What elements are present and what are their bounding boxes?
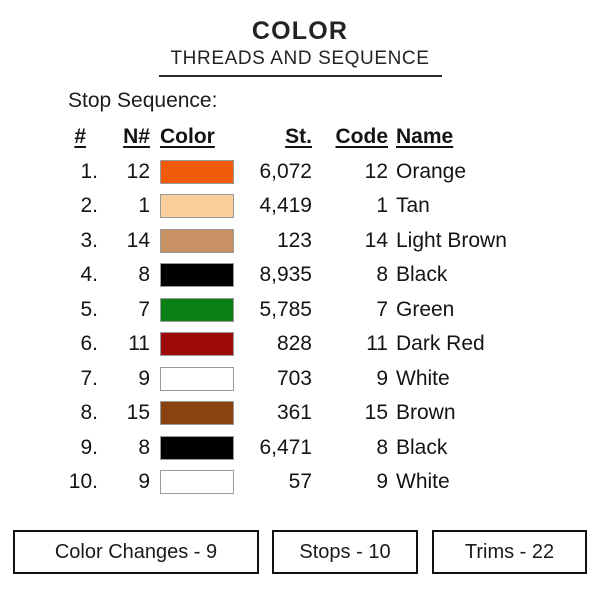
- title-divider: [159, 75, 442, 77]
- stops-label: Stops - 10: [299, 541, 390, 564]
- row-index: 5.: [0, 297, 98, 323]
- row-needle-number: 7: [104, 297, 150, 323]
- row-color-code: 15: [316, 400, 388, 426]
- table-body: 1.126,07212Orange2.14,4191Tan3.1412314Li…: [0, 159, 600, 504]
- page-subtitle: THREADS AND SEQUENCE: [0, 49, 600, 70]
- row-index: 10.: [0, 469, 98, 495]
- row-index: 6.: [0, 331, 98, 357]
- row-stitch-count: 8,935: [236, 262, 312, 288]
- row-stitch-count: 4,419: [236, 193, 312, 219]
- color-changes-box: Color Changes - 9: [13, 530, 259, 574]
- row-color-code: 8: [316, 262, 388, 288]
- row-needle-number: 8: [104, 435, 150, 461]
- color-swatch: [160, 194, 234, 218]
- row-color-code: 14: [316, 228, 388, 254]
- row-stitch-count: 123: [236, 228, 312, 254]
- row-stitch-count: 6,471: [236, 435, 312, 461]
- color-swatch: [160, 298, 234, 322]
- row-color-code: 12: [316, 159, 388, 185]
- color-swatch: [160, 367, 234, 391]
- row-stitch-count: 5,785: [236, 297, 312, 323]
- row-color-name: Green: [396, 297, 596, 323]
- row-needle-number: 15: [104, 400, 150, 426]
- column-header-name: Name: [396, 124, 506, 150]
- row-index: 8.: [0, 400, 98, 426]
- table-row: 10.9579White: [0, 469, 600, 504]
- column-header-stitches: St.: [236, 124, 312, 150]
- row-needle-number: 12: [104, 159, 150, 185]
- row-color-name: White: [396, 469, 596, 495]
- table-row: 5.75,7857Green: [0, 297, 600, 332]
- row-stitch-count: 828: [236, 331, 312, 357]
- page-title: COLOR: [0, 18, 600, 46]
- color-changes-label: Color Changes - 9: [55, 541, 217, 564]
- table-row: 7.97039White: [0, 366, 600, 401]
- row-index: 2.: [0, 193, 98, 219]
- row-color-name: Dark Red: [396, 331, 596, 357]
- row-color-name: White: [396, 366, 596, 392]
- row-color-code: 7: [316, 297, 388, 323]
- row-color-name: Brown: [396, 400, 596, 426]
- row-index: 3.: [0, 228, 98, 254]
- stop-sequence-table: # N# Color St. Code Name 1.126,07212Oran…: [0, 124, 600, 504]
- stops-box: Stops - 10: [272, 530, 418, 574]
- row-needle-number: 9: [104, 366, 150, 392]
- row-color-name: Light Brown: [396, 228, 596, 254]
- stop-sequence-label: Stop Sequence:: [68, 89, 217, 113]
- row-needle-number: 1: [104, 193, 150, 219]
- row-color-name: Black: [396, 262, 596, 288]
- row-index: 1.: [0, 159, 98, 185]
- row-needle-number: 14: [104, 228, 150, 254]
- column-header-color: Color: [160, 124, 236, 150]
- row-stitch-count: 6,072: [236, 159, 312, 185]
- color-swatch: [160, 401, 234, 425]
- row-color-code: 1: [316, 193, 388, 219]
- table-row: 2.14,4191Tan: [0, 193, 600, 228]
- summary-footer: Color Changes - 9 Stops - 10 Trims - 22: [0, 530, 600, 576]
- table-row: 4.88,9358Black: [0, 262, 600, 297]
- table-row: 9.86,4718Black: [0, 435, 600, 470]
- table-row: 3.1412314Light Brown: [0, 228, 600, 263]
- row-stitch-count: 361: [236, 400, 312, 426]
- table-row: 1.126,07212Orange: [0, 159, 600, 194]
- row-color-code: 9: [316, 366, 388, 392]
- row-color-name: Tan: [396, 193, 596, 219]
- color-swatch: [160, 229, 234, 253]
- row-needle-number: 8: [104, 262, 150, 288]
- table-header-row: # N# Color St. Code Name: [0, 124, 600, 159]
- color-swatch: [160, 263, 234, 287]
- document-header: COLOR THREADS AND SEQUENCE: [0, 0, 600, 77]
- color-swatch: [160, 470, 234, 494]
- row-color-code: 9: [316, 469, 388, 495]
- row-index: 4.: [0, 262, 98, 288]
- color-swatch: [160, 436, 234, 460]
- row-index: 7.: [0, 366, 98, 392]
- row-needle-number: 9: [104, 469, 150, 495]
- column-header-code: Code: [316, 124, 388, 150]
- row-color-name: Black: [396, 435, 596, 461]
- row-color-name: Orange: [396, 159, 596, 185]
- table-row: 8.1536115Brown: [0, 400, 600, 435]
- row-stitch-count: 57: [236, 469, 312, 495]
- color-swatch: [160, 332, 234, 356]
- trims-label: Trims - 22: [465, 541, 554, 564]
- row-stitch-count: 703: [236, 366, 312, 392]
- trims-box: Trims - 22: [432, 530, 587, 574]
- color-swatch: [160, 160, 234, 184]
- column-header-needle: N#: [104, 124, 150, 150]
- table-row: 6.1182811Dark Red: [0, 331, 600, 366]
- row-index: 9.: [0, 435, 98, 461]
- column-header-num: #: [0, 124, 86, 150]
- row-color-code: 11: [316, 331, 388, 357]
- row-needle-number: 11: [104, 331, 150, 357]
- row-color-code: 8: [316, 435, 388, 461]
